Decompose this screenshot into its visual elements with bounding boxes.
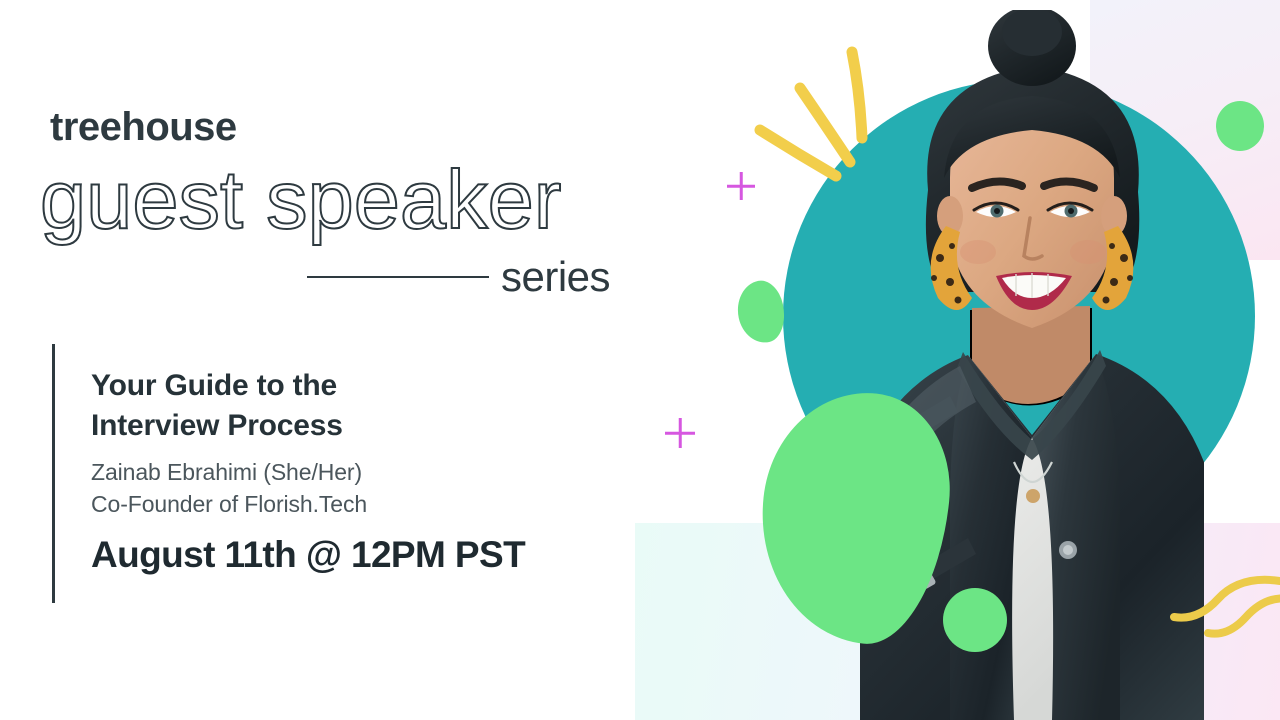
event-details: Your Guide to the Interview Process Zain… <box>91 366 631 575</box>
speaker-name: Zainab Ebrahimi (She/Her) <box>91 457 631 489</box>
green-blob-small <box>732 277 790 347</box>
series-divider-rule <box>307 276 489 278</box>
sparkle-lines-icon <box>740 30 900 190</box>
wavy-lines-icon <box>1170 575 1280 665</box>
vertical-accent-bar <box>52 344 55 603</box>
plus-mark-icon-upper <box>727 172 755 200</box>
guest-speaker-promo-slide: treehouse guest speaker series Your Guid… <box>0 0 1280 720</box>
speaker-role: Co-Founder of Florish.Tech <box>91 489 631 521</box>
event-title-line-1: Your Guide to the <box>91 366 631 406</box>
series-row: series <box>307 252 627 302</box>
guest-speaker-headline: guest speaker <box>40 158 561 241</box>
plus-mark-icon-lower <box>665 418 695 448</box>
event-title-line-2: Interview Process <box>91 406 631 446</box>
speaker-info: Zainab Ebrahimi (She/Her) Co-Founder of … <box>91 457 631 520</box>
series-label: series <box>501 256 610 298</box>
treehouse-wordmark: treehouse <box>50 107 237 147</box>
event-title: Your Guide to the Interview Process <box>91 366 631 445</box>
event-date-time: August 11th @ 12PM PST <box>91 535 631 576</box>
green-circle-bottom <box>943 588 1007 652</box>
